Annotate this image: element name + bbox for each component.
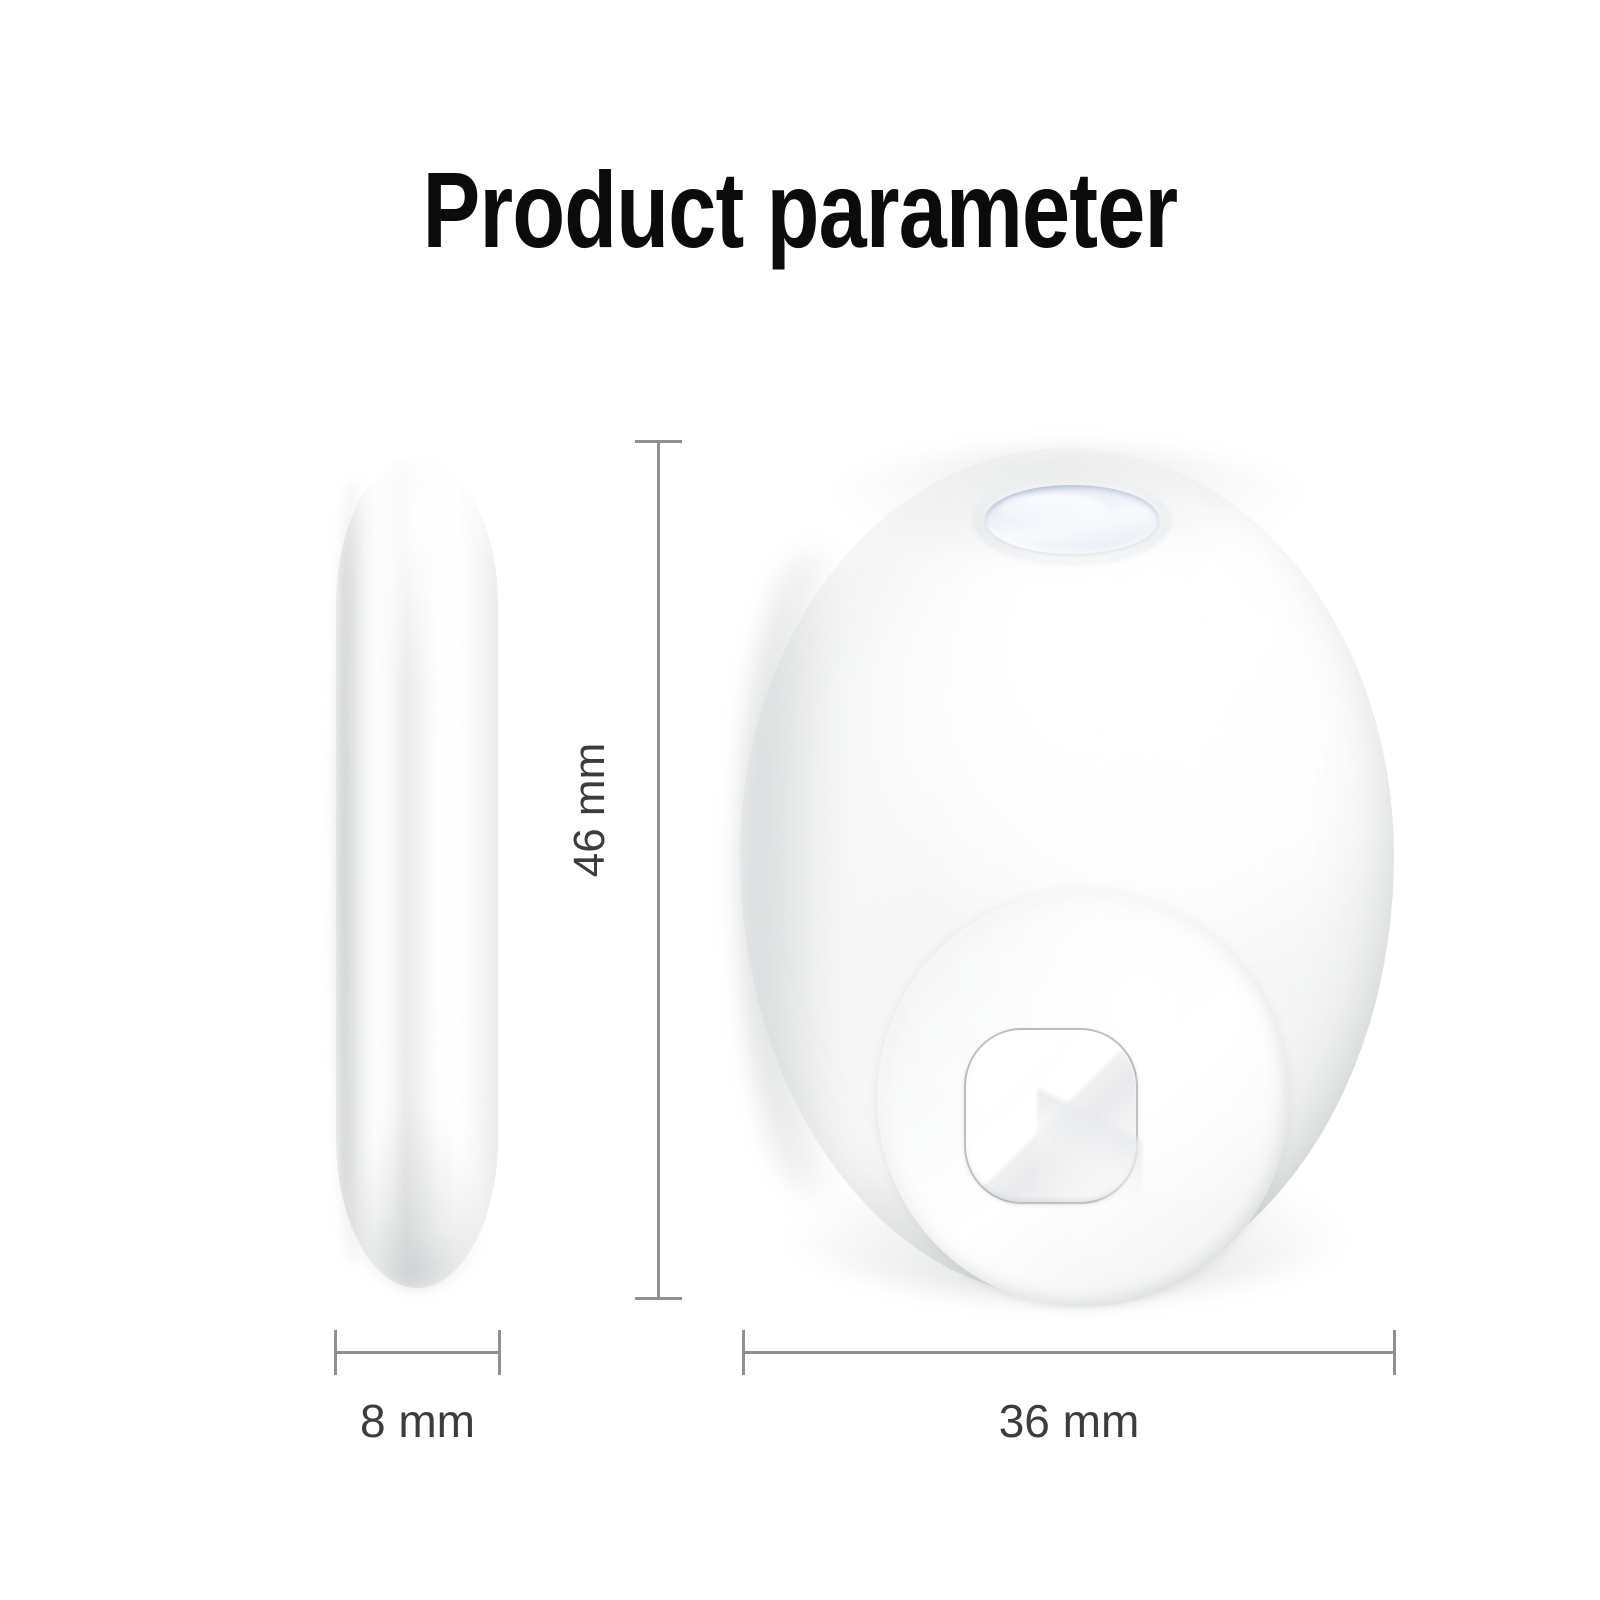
push-button[interactable] — [964, 1028, 1138, 1205]
product-parameter-page: Product parameter 46 mm 8 mm — [0, 0, 1600, 1600]
dimension-cap-thickness-left — [334, 1330, 337, 1375]
dimension-label-thickness: 8 mm — [334, 1394, 501, 1448]
device-left-shadow — [740, 550, 858, 1196]
dimension-label-width: 36 mm — [742, 1394, 1396, 1448]
dimension-line-thickness — [334, 1351, 501, 1354]
product-front-view — [740, 448, 1394, 1298]
dimension-cap-height-bottom — [635, 1297, 682, 1300]
push-button-diagonal-highlight — [1037, 1040, 1142, 1199]
side-view-highlight-right — [427, 539, 463, 1205]
dimension-line-height — [657, 440, 660, 1300]
side-view-bottom-shadow — [346, 1105, 489, 1288]
page-title: Product parameter — [160, 150, 1440, 270]
led-indicator-icon — [985, 485, 1158, 555]
led-indicator-gloss — [999, 493, 1106, 525]
dimension-cap-thickness-right — [498, 1330, 501, 1375]
product-side-view — [336, 456, 498, 1288]
dimension-cap-width-left — [742, 1330, 745, 1375]
device-top-gloss — [897, 516, 1263, 890]
dimension-cap-height-top — [635, 440, 682, 443]
dimension-label-height: 46 mm — [567, 740, 613, 880]
dimension-line-width — [742, 1351, 1396, 1354]
dimension-cap-width-right — [1393, 1330, 1396, 1375]
